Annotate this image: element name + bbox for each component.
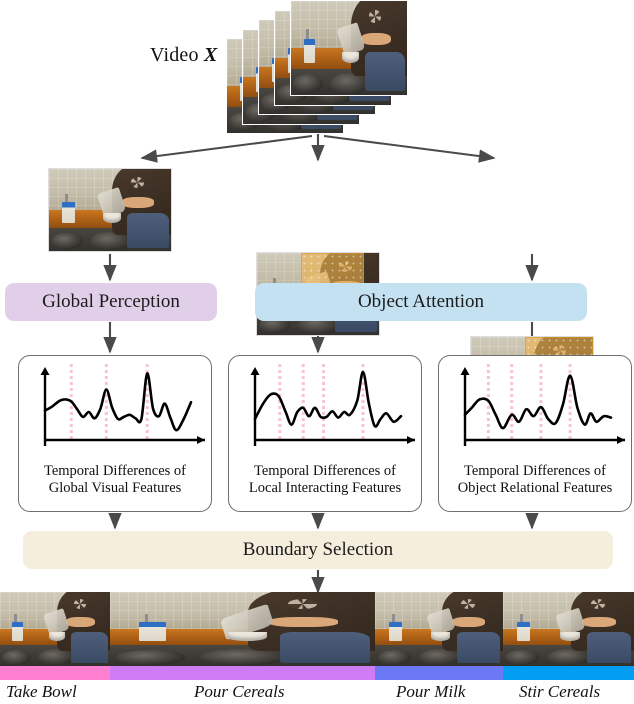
output-filmstrip <box>0 592 634 666</box>
filmstrip-segment[interactable] <box>503 592 634 666</box>
segment-color-bar <box>0 666 634 680</box>
card-local-caption-line1: Temporal Differences of <box>229 463 421 480</box>
segment-color-swatch <box>0 666 110 680</box>
card-global-caption: Temporal Differences of Global Visual Fe… <box>19 463 211 497</box>
segment-label: Pour Cereals <box>194 682 285 702</box>
card-global-caption-line1: Temporal Differences of <box>19 463 211 480</box>
segment-color-swatch <box>503 666 634 680</box>
video-label-symbol: X <box>204 44 218 66</box>
module-boundary-selection[interactable]: Boundary Selection <box>23 531 613 569</box>
card-global-caption-line2: Global Visual Features <box>19 480 211 497</box>
video-label: Video X <box>150 44 217 67</box>
segment-label: Stir Cereals <box>519 682 600 702</box>
plot-local-interacting-features <box>229 358 423 456</box>
filmstrip-segment[interactable] <box>375 592 502 666</box>
card-local-interacting-features: Temporal Differences of Local Interactin… <box>228 355 422 512</box>
module-boundary-selection-label: Boundary Selection <box>243 539 393 561</box>
segment-color-swatch <box>110 666 375 680</box>
card-relational-caption: Temporal Differences of Object Relationa… <box>439 463 631 497</box>
module-object-attention-label: Object Attention <box>358 291 484 313</box>
segment-label: Take Bowl <box>6 682 77 702</box>
thumbnail-global-frame <box>48 168 172 252</box>
card-relational-caption-line1: Temporal Differences of <box>439 463 631 480</box>
filmstrip-segment[interactable] <box>0 592 110 666</box>
module-global-perception-label: Global Perception <box>42 291 180 313</box>
card-global-visual-features: Temporal Differences of Global Visual Fe… <box>18 355 212 512</box>
card-local-caption: Temporal Differences of Local Interactin… <box>229 463 421 497</box>
segment-color-swatch <box>375 666 502 680</box>
plot-object-relational-features <box>439 358 633 456</box>
filmstrip-segment[interactable] <box>110 592 375 666</box>
card-relational-caption-line2: Object Relational Features <box>439 480 631 497</box>
module-global-perception[interactable]: Global Perception <box>5 283 217 321</box>
module-object-attention[interactable]: Object Attention <box>255 283 587 321</box>
card-local-caption-line2: Local Interacting Features <box>229 480 421 497</box>
segment-labels: Take BowlPour CerealsPour MilkStir Cerea… <box>0 682 634 704</box>
video-frame <box>290 0 408 96</box>
plot-global-visual-features <box>19 358 213 456</box>
video-frame-stack <box>226 0 412 135</box>
video-label-text: Video <box>150 44 204 66</box>
segment-label: Pour Milk <box>396 682 465 702</box>
card-object-relational-features: Temporal Differences of Object Relationa… <box>438 355 632 512</box>
